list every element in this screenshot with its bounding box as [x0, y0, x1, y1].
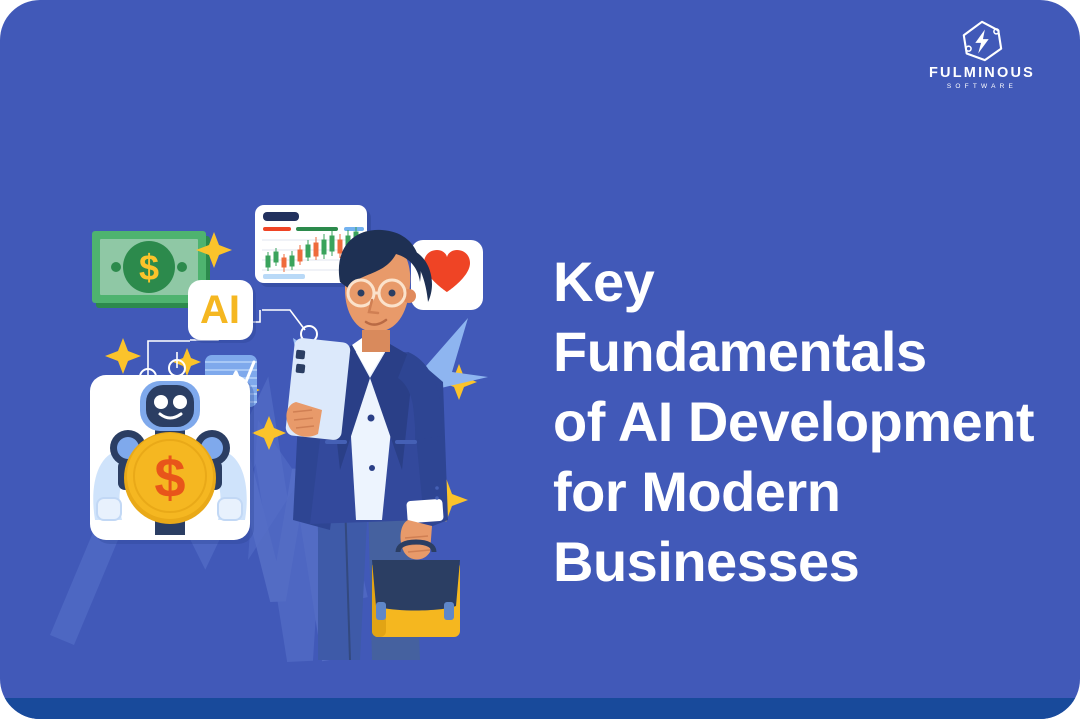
illustration: $ — [0, 0, 553, 719]
promo-banner: $ — [0, 0, 1080, 719]
robot-holding-coin-card: $ — [90, 375, 254, 544]
hexagon-lightning-bolt-icon — [959, 18, 1005, 64]
logo-subtitle: SOFTWARE — [947, 84, 1017, 91]
dollar-glyph: $ — [139, 247, 159, 288]
bottom-accent-bar — [0, 698, 1080, 719]
logo-wordmark: FULMINOUS — [929, 66, 1035, 81]
heart-speech-bubble — [411, 240, 483, 310]
headline-line-3: of AI Development — [553, 387, 1073, 457]
ai-card: AI — [188, 280, 305, 343]
headline-line-5: Businesses — [553, 527, 1073, 597]
coin-dollar-glyph: $ — [154, 446, 185, 509]
headline-line-1: Key — [553, 247, 1073, 317]
sparkle-icon — [105, 338, 141, 374]
headline-line-2: Fundamentals — [553, 317, 1073, 387]
ai-label: AI — [200, 288, 240, 332]
brand-logo[interactable]: FULMINOUS SOFTWARE — [922, 18, 1042, 90]
page-title: Key Fundamentals of AI Development for M… — [553, 247, 1073, 597]
headline-line-4: for Modern — [553, 457, 1073, 527]
